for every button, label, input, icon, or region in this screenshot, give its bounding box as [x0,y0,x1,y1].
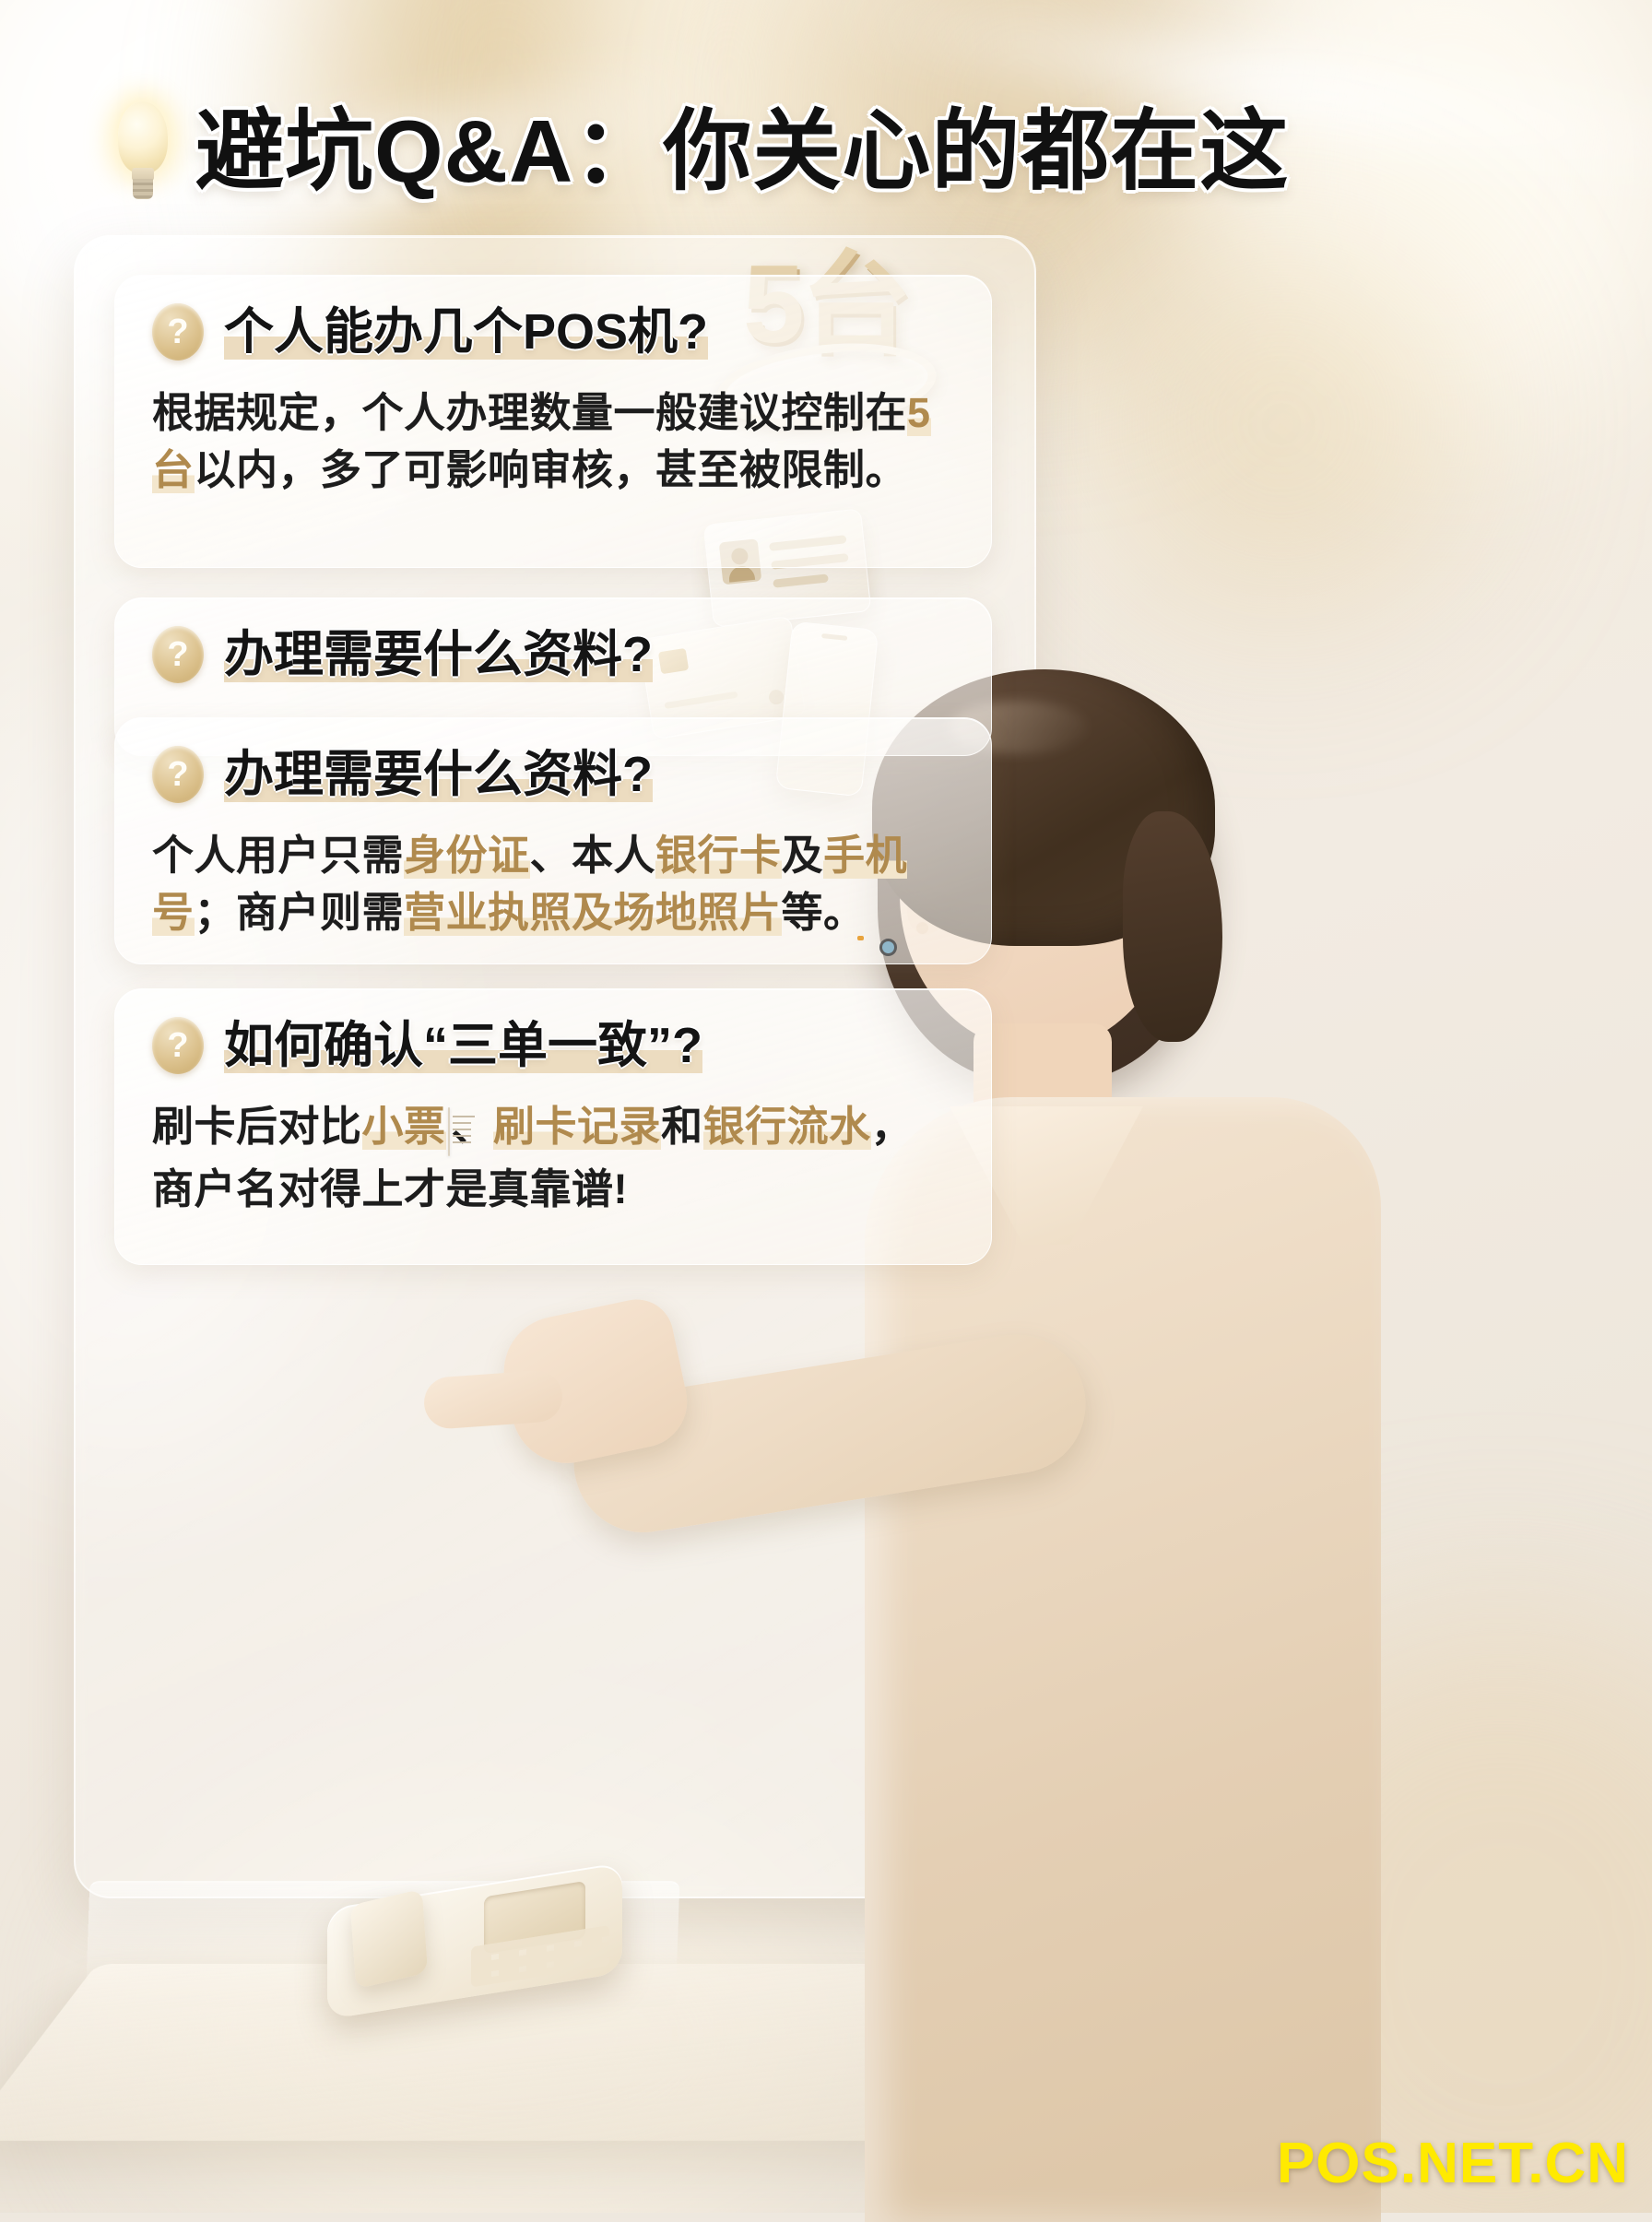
answer-plain: 刷卡后对比 [152,1103,362,1150]
answer-plain: 和 [661,1103,703,1150]
qa-card[interactable]: ? 个人能办几个POS机? 根据规定，个人办理数量一般建议控制在5台以内，多了可… [114,275,992,568]
answer-highlight: 银行流水 [703,1103,871,1150]
answer-plain: 个人用户只需 [152,832,404,879]
pos-terminal-prop [327,1849,714,2070]
qa-card[interactable]: ? 如何确认“三单一致”? 刷卡后对比小票、刷卡记录和银行流水，商户名对得上才是… [114,988,992,1265]
question-mark-icon: ? [152,626,204,683]
answer-plain: ；商户则需 [195,889,405,936]
answer-highlight: 身份证 [404,832,530,879]
answer-highlight: 刷卡记录 [493,1103,661,1150]
answer-highlight: 小票 [362,1103,446,1150]
question-title: 办理需要什么资料? [224,627,653,682]
lightbulb-icon [111,101,175,203]
receipt-icon [448,1104,450,1161]
question-mark-icon: ? [152,1017,204,1074]
site-watermark: POS.NET.CN [1277,2131,1629,2196]
answer-plain: 根据规定，个人办理数量一般建议控制在 [152,389,907,436]
answer-plain: 、本人 [530,832,656,879]
answer-text: 刷卡后对比小票、刷卡记录和银行流水，商户名对得上才是真靠谱! [152,1098,954,1218]
question-title: 办理需要什么资料? [224,747,653,802]
question-mark-icon: ? [152,746,204,803]
page-title: 避坑Q&A：你关心的都在这 [195,108,1289,196]
answer-text: 根据规定，个人办理数量一般建议控制在5台以内，多了可影响审核，甚至被限制。 [152,384,954,499]
answer-text: 个人用户只需身份证、本人银行卡及手机号；商户则需营业执照及场地照片等。 [152,827,954,941]
question-row: ? 办理需要什么资料? [152,626,954,683]
answer-plain: 等。 [782,889,866,936]
answer-plain: 及 [782,832,824,879]
question-row: ? 个人能办几个POS机? [152,303,954,360]
qa-card[interactable]: ? 办理需要什么资料? 个人用户只需身份证、本人银行卡及手机号；商户则需营业执照… [114,717,992,964]
question-row: ? 如何确认“三单一致”? [152,1017,954,1074]
question-title: 如何确认“三单一致”? [224,1018,702,1073]
question-title: 个人能办几个POS机? [224,304,708,360]
question-mark-icon: ? [152,303,204,360]
answer-highlight: 营业执照及场地照片 [404,889,782,936]
question-row: ? 办理需要什么资料? [152,746,954,803]
bokeh-light-6 [1088,230,1475,618]
page-header: 避坑Q&A：你关心的都在这 [0,88,1652,217]
answer-highlight: 银行卡 [655,832,782,879]
answer-plain: 以内，多了可影响审核，甚至被限制。 [195,446,908,493]
